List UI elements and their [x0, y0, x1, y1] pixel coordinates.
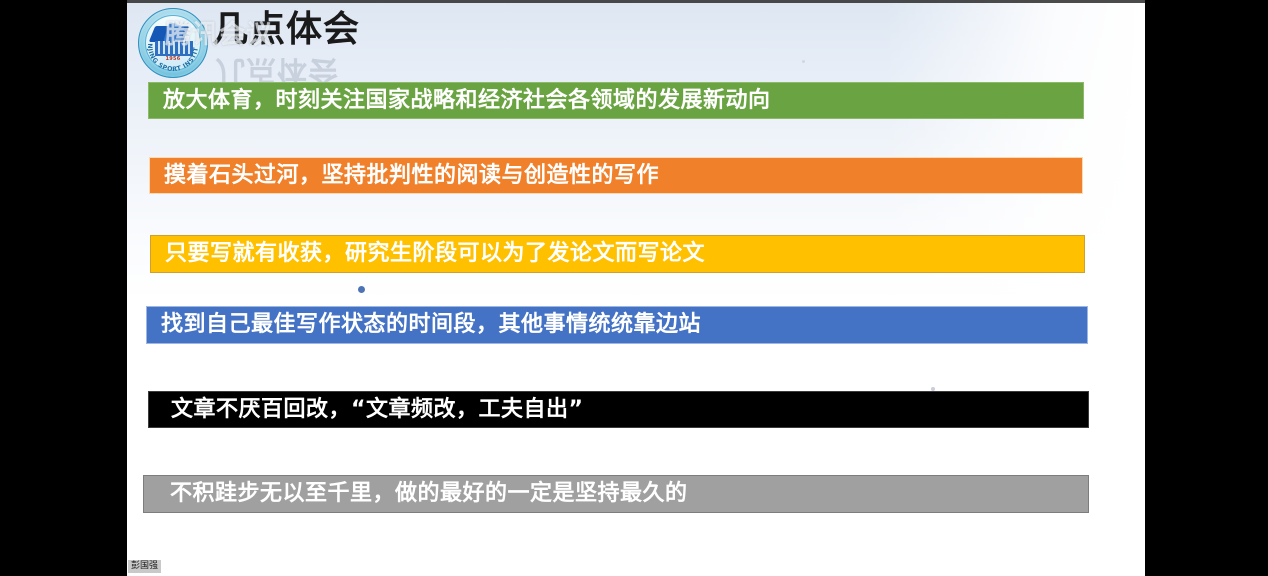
- nanjing-sport-institute-logo-icon: 1956 NANJING SPORT INSTITUTE: [138, 8, 208, 78]
- logo-arc-text-svg: NANJING SPORT INSTITUTE: [138, 8, 208, 78]
- screen-share-viewport: 1956 NANJING SPORT INSTITUTE 几点体会 几点体会 腾…: [0, 0, 1268, 576]
- artifact-dot-1: [358, 286, 365, 293]
- presenter-name-chip: 彭国强: [128, 560, 161, 573]
- bullet-bar-1: 放大体育，时刻关注国家战略和经济社会各领域的发展新动向: [148, 82, 1084, 119]
- bullet-bar-3: 只要写就有收获，研究生阶段可以为了发论文而写论文: [150, 235, 1085, 273]
- bullet-bar-6-text: 不积跬步无以至千里，做的最好的一定是坚持最久的: [170, 483, 688, 505]
- bullet-bar-4: 找到自己最佳写作状态的时间段，其他事情统统靠边站: [146, 306, 1088, 344]
- page-title: 几点体会: [212, 8, 360, 51]
- bullet-bar-1-text: 放大体育，时刻关注国家战略和经济社会各领域的发展新动向: [163, 90, 771, 112]
- bullet-bar-5-text: 文章不厌百回改，“文章频改，工夫自出”: [171, 399, 583, 421]
- logo-arc-text: NANJING SPORT INSTITUTE: [138, 8, 200, 73]
- bullet-bar-5: 文章不厌百回改，“文章频改，工夫自出”: [148, 391, 1089, 428]
- artifact-dot-3: [802, 60, 805, 63]
- presentation-slide: 1956 NANJING SPORT INSTITUTE 几点体会 几点体会 腾…: [127, 0, 1145, 576]
- bullet-bar-4-text: 找到自己最佳写作状态的时间段，其他事情统统靠边站: [161, 314, 701, 336]
- bullet-bar-2-text: 摸着石头过河，坚持批判性的阅读与创造性的写作: [164, 165, 659, 187]
- artifact-dot-2: [931, 387, 935, 391]
- bullet-bar-2: 摸着石头过河，坚持批判性的阅读与创造性的写作: [149, 157, 1083, 194]
- bullet-bar-6: 不积跬步无以至千里，做的最好的一定是坚持最久的: [143, 475, 1089, 513]
- slide-top-edge: [127, 0, 1145, 3]
- bullet-bar-3-text: 只要写就有收获，研究生阶段可以为了发论文而写论文: [165, 243, 705, 265]
